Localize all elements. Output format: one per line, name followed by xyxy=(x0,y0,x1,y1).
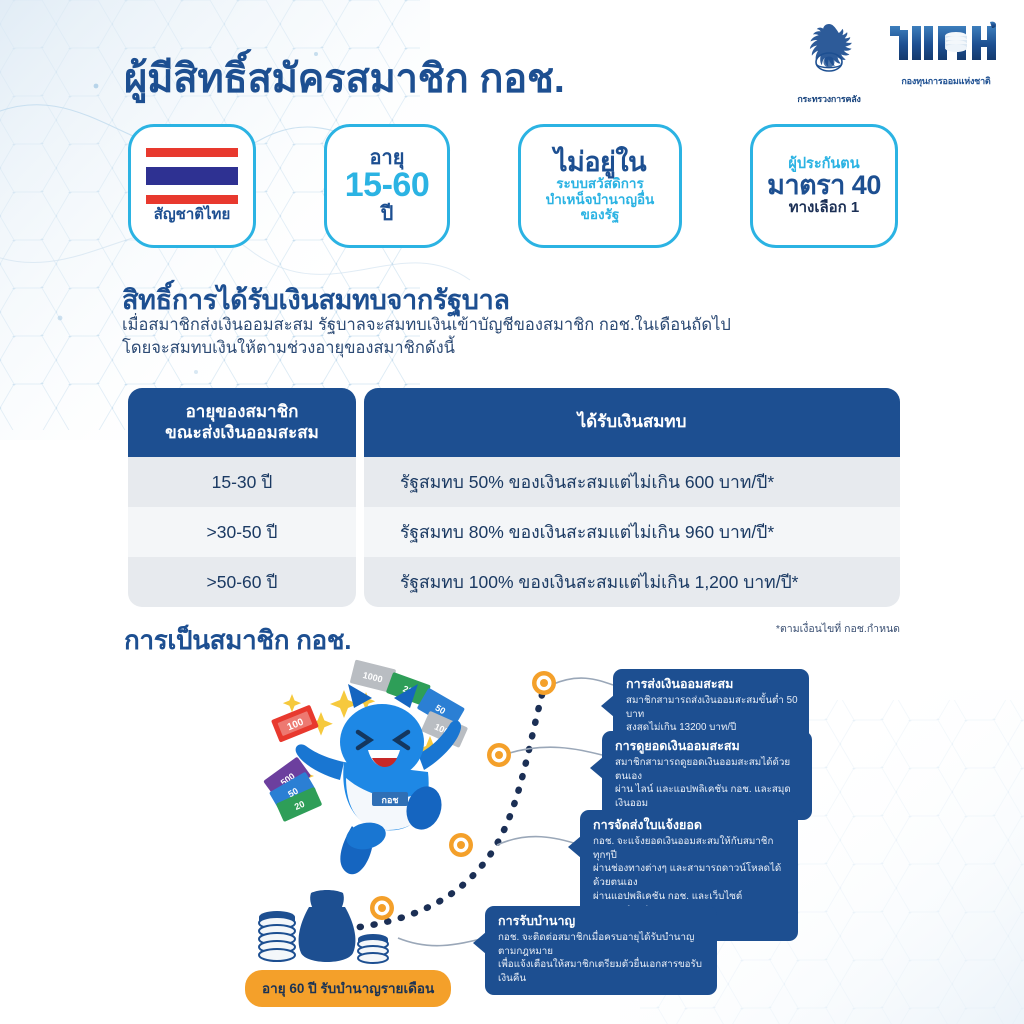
eligibility-card-nationality: สัญชาติไทย xyxy=(128,124,256,248)
benefits-description-line2: โดยจะสมทบเงินให้ตามช่วงอายุของสมาชิกดังน… xyxy=(122,337,731,360)
table-row: รัฐสมทบ 80% ของเงินสะสมแต่ไม่เกิน 960 บา… xyxy=(364,507,900,557)
journey-step-line: ผ่าน ไลน์ และแอปพลิเคชัน กอช. และสมุดเงิ… xyxy=(615,783,801,811)
coin-stack-icon xyxy=(945,32,967,52)
journey-step-body: กอช. จะติดต่อสมาชิกเมื่อครบอายุได้รับบำน… xyxy=(498,931,706,987)
journey-step-line: เพื่อแจ้งเตือนให้สมาชิกเตรียมตัวยื่นเอกส… xyxy=(498,958,706,986)
pension-age-badge: อายุ 60 ปี รับบำนาญรายเดือน xyxy=(245,970,451,1007)
fund-logo: กองทุนการออมแห่งชาติ xyxy=(886,20,1006,88)
card-label-insured-section: มาตรา 40 xyxy=(767,172,881,199)
journey-step-line: กอช. จะติดต่อสมาชิกเมื่อครบอายุได้รับบำน… xyxy=(498,931,706,959)
ministry-logo: กระทรวงการคลัง xyxy=(790,20,868,106)
card-label-welfare-line2: บำเหน็จบำนาญอื่น xyxy=(546,192,655,207)
svg-text:กอช: กอช xyxy=(382,795,399,805)
table-header-age-line1: อายุของสมาชิก xyxy=(165,402,319,423)
table-header-benefit: ได้รับเงินสมทบ xyxy=(364,388,900,457)
page-title: ผู้มีสิทธิ์สมัครสมาชิก กอช. xyxy=(124,46,565,110)
journey-diagram: 100 500 50 20 1000 xyxy=(0,655,1024,1024)
table-row: >30-50 ปี xyxy=(128,507,356,557)
coin-stack-icon xyxy=(259,911,295,961)
journey-step-title: การจัดส่งใบแจ้งยอด xyxy=(593,818,787,834)
journey-step-title: การส่งเงินออมสะสม xyxy=(626,677,798,693)
journey-step-body: สมาชิกสามารถส่งเงินออมสะสมขั้นต่ำ 50 บาท… xyxy=(626,694,798,736)
table-row: >50-60 ปี xyxy=(128,557,356,607)
journey-step-pension: การรับบำนาญ กอช. จะติดต่อสมาชิกเมื่อครบอ… xyxy=(485,906,717,995)
money-bag-with-coins-icon xyxy=(245,883,425,973)
journey-step-line: กอช. จะแจ้งยอดเงินออมสะสมให้กับสมาชิกทุก… xyxy=(593,835,787,863)
journey-step-line: ผ่านช่องทางต่างๆ และสามารถดาวน์โหลดได้ด้… xyxy=(593,862,787,890)
fund-logo-caption: กองทุนการออมแห่งชาติ xyxy=(886,74,1006,88)
table-column-benefit: ได้รับเงินสมทบ รัฐสมทบ 50% ของเงินสะสมแต… xyxy=(364,388,900,607)
thai-flag-icon xyxy=(146,148,238,204)
table-row: รัฐสมทบ 50% ของเงินสะสมแต่ไม่เกิน 600 บา… xyxy=(364,457,900,507)
garuda-emblem-icon xyxy=(790,20,868,86)
eligibility-card-welfare: ไม่อยู่ใน ระบบสวัสดิการ บำเหน็จบำนาญอื่น… xyxy=(518,124,682,248)
table-body-age: 15-30 ปี >30-50 ปี >50-60 ปี xyxy=(128,457,356,607)
table-header-age: อายุของสมาชิก ขณะส่งเงินออมสะสม xyxy=(128,388,356,457)
journey-step-line: สมาชิกสามารถส่งเงินออมสะสมขั้นต่ำ 50 บาท xyxy=(626,694,798,722)
coin-stack-icon xyxy=(358,934,388,963)
logo-group: กระทรวงการคลัง xyxy=(790,20,1006,106)
table-body-benefit: รัฐสมทบ 50% ของเงินสะสมแต่ไม่เกิน 600 บา… xyxy=(364,457,900,607)
table-row: รัฐสมทบ 100% ของเงินสะสมแต่ไม่เกิน 1,200… xyxy=(364,557,900,607)
card-label-welfare-line1: ระบบสวัสดิการ xyxy=(556,176,643,191)
journey-step-balance: การดูยอดเงินออมสะสม สมาชิกสามารถดูยอดเงิ… xyxy=(602,731,812,820)
eligibility-card-insured: ผู้ประกันตน มาตรา 40 ทางเลือก 1 xyxy=(750,124,898,248)
card-label-age-unit: ปี xyxy=(381,203,394,225)
card-label-welfare-line3: ของรัฐ xyxy=(581,207,620,222)
card-label-welfare-top: ไม่อยู่ใน xyxy=(554,149,646,176)
eligibility-card-age: อายุ 15-60 ปี xyxy=(324,124,450,248)
card-label-age-range: 15-60 xyxy=(345,169,429,202)
table-column-age: อายุของสมาชิก ขณะส่งเงินออมสะสม 15-30 ปี… xyxy=(128,388,356,607)
contribution-table: อายุของสมาชิก ขณะส่งเงินออมสะสม 15-30 ปี… xyxy=(128,388,900,607)
benefits-description-line1: เมื่อสมาชิกส่งเงินออมสะสม รัฐบาลจะสมทบเง… xyxy=(122,314,731,337)
table-row: 15-30 ปี xyxy=(128,457,356,507)
table-footnote: *ตามเงื่อนไขที่ กอช.กำหนด xyxy=(776,620,900,637)
benefits-description: เมื่อสมาชิกส่งเงินออมสะสม รัฐบาลจะสมทบเง… xyxy=(122,314,731,361)
infographic-page: ผู้มีสิทธิ์สมัครสมาชิก กอช. กระทรวงการคล… xyxy=(0,0,1024,1024)
ministry-logo-caption: กระทรวงการคลัง xyxy=(788,92,870,106)
eligibility-card-row: สัญชาติไทย อายุ 15-60 ปี ไม่อยู่ใน ระบบส… xyxy=(128,124,898,248)
card-label-nationality: สัญชาติไทย xyxy=(154,207,231,224)
fund-wordmark-icon xyxy=(886,20,1006,68)
header: ผู้มีสิทธิ์สมัครสมาชิก กอช. กระทรวงการคล… xyxy=(0,14,1024,114)
journey-step-line: สมาชิกสามารถดูยอดเงินออมสะสมได้ด้วยตนเอง xyxy=(615,756,801,784)
table-header-age-line2: ขณะส่งเงินออมสะสม xyxy=(165,423,319,444)
journey-step-title: การดูยอดเงินออมสะสม xyxy=(615,739,801,755)
blue-cat-mascot-with-banknotes-icon: 100 500 50 20 1000 xyxy=(248,650,498,900)
journey-step-body: สมาชิกสามารถดูยอดเงินออมสะสมได้ด้วยตนเอง… xyxy=(615,756,801,812)
card-label-insured-option: ทางเลือก 1 xyxy=(789,199,860,216)
journey-step-title: การรับบำนาญ xyxy=(498,914,706,930)
